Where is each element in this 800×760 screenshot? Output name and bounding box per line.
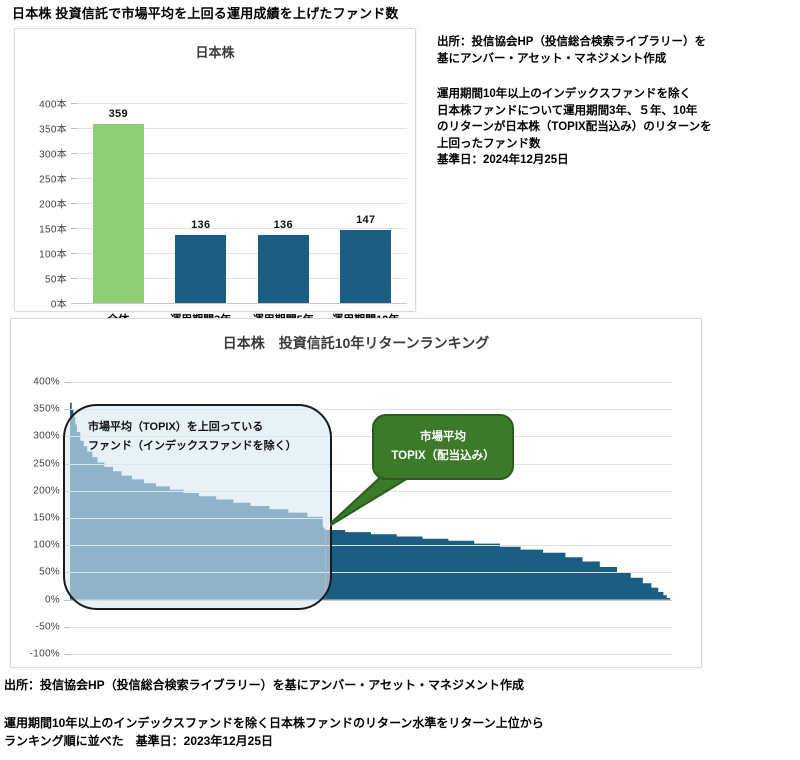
bar-y-tickmark bbox=[71, 203, 77, 204]
bar-chart-title: 日本株 bbox=[15, 42, 415, 61]
area-gridline bbox=[70, 382, 672, 383]
bar-3 bbox=[258, 235, 309, 303]
bar-y-tickmark bbox=[71, 253, 77, 254]
footer-source: 出所：投信協会HP（投信総合検索ライブラリー）を基にアンバー・アセット・マネジメ… bbox=[4, 676, 524, 694]
topix-callout: 市場平均 TOPIX（配当込み） bbox=[372, 414, 514, 480]
area-y-tick-label: 350% bbox=[14, 404, 60, 415]
bar-value-label: 136 bbox=[160, 219, 243, 231]
bar-y-tick-label: 400本 bbox=[23, 96, 67, 111]
infographic-page: 日本株 投資信託で市場平均を上回る運用成績を上げたファンド数 日本株 0本50本… bbox=[0, 0, 800, 760]
side-note-source: 出所：投信協会HP（投信総合検索ライブラリー）を 基にアンバー・アセット・マネジ… bbox=[437, 34, 787, 67]
bar-y-tick-label: 150本 bbox=[23, 221, 67, 236]
bar-gridline bbox=[77, 103, 407, 104]
bar-chart-panel: 日本株 0本50本100本150本200本250本300本350本400本359… bbox=[14, 28, 416, 312]
area-gridline bbox=[70, 627, 672, 628]
bar-y-tickmark bbox=[71, 153, 77, 154]
area-y-tick-label: 300% bbox=[14, 431, 60, 442]
callout-line-1: 市場平均 bbox=[420, 428, 466, 447]
bar-value-label: 136 bbox=[242, 219, 325, 231]
bar-y-tickmark bbox=[71, 228, 77, 229]
area-y-tick-label: 250% bbox=[14, 458, 60, 469]
area-y-tick-label: 50% bbox=[14, 567, 60, 578]
area-y-tick-label: 150% bbox=[14, 513, 60, 524]
bar-y-tickmark bbox=[71, 128, 77, 129]
bar-value-label: 359 bbox=[77, 108, 160, 120]
outperform-highlight-label: 市場平均（TOPIX）を上回っている ファンド（インデックスファンドを除く） bbox=[88, 418, 297, 456]
area-y-tick-label: -100% bbox=[14, 649, 60, 660]
highlight-line-2: ファンド（インデックスファンドを除く） bbox=[88, 437, 297, 456]
area-y-tick-label: 400% bbox=[14, 377, 60, 388]
bar-chart-plot: 0本50本100本150本200本250本300本350本400本359全体13… bbox=[77, 103, 407, 303]
area-y-tick-label: 100% bbox=[14, 540, 60, 551]
callout-line-2: TOPIX（配当込み） bbox=[391, 447, 494, 466]
bar-y-tick-label: 250本 bbox=[23, 171, 67, 186]
bar-y-tick-label: 0本 bbox=[23, 296, 67, 311]
bar-y-tick-label: 200本 bbox=[23, 196, 67, 211]
area-chart-title: 日本株 投資信託10年リターンランキング bbox=[11, 333, 701, 353]
bar-value-label: 147 bbox=[325, 214, 408, 226]
bar-y-tick-label: 100本 bbox=[23, 246, 67, 261]
bar-1 bbox=[93, 124, 144, 304]
bar-4 bbox=[340, 230, 391, 304]
area-y-tickmark bbox=[64, 627, 70, 628]
highlight-line-1: 市場平均（TOPIX）を上回っている bbox=[88, 418, 297, 437]
area-y-tickmark bbox=[64, 654, 70, 655]
bar-y-tickmark bbox=[71, 178, 77, 179]
bar-y-tick-label: 350本 bbox=[23, 121, 67, 136]
footer-detail: 運用期間10年以上のインデックスファンドを除く日本株ファンドのリターン水準をリタ… bbox=[4, 714, 544, 750]
bar-y-tickmark bbox=[71, 103, 77, 104]
bar-y-tick-label: 50本 bbox=[23, 271, 67, 286]
area-y-tick-label: 0% bbox=[14, 594, 60, 605]
area-gridline bbox=[70, 654, 672, 655]
page-title: 日本株 投資信託で市場平均を上回る運用成績を上げたファンド数 bbox=[12, 3, 399, 22]
area-y-tick-label: -50% bbox=[14, 621, 60, 632]
area-y-tick-label: 200% bbox=[14, 485, 60, 496]
area-y-tickmark bbox=[64, 409, 70, 410]
area-y-tickmark bbox=[64, 382, 70, 383]
side-note-detail: 運用期間10年以上のインデックスファンドを除く 日本株ファンドについて運用期間3… bbox=[437, 86, 792, 169]
bar-y-tick-label: 300本 bbox=[23, 146, 67, 161]
bar-x-axis bbox=[71, 303, 407, 304]
bar-2 bbox=[175, 235, 226, 303]
bar-y-tickmark bbox=[71, 278, 77, 279]
